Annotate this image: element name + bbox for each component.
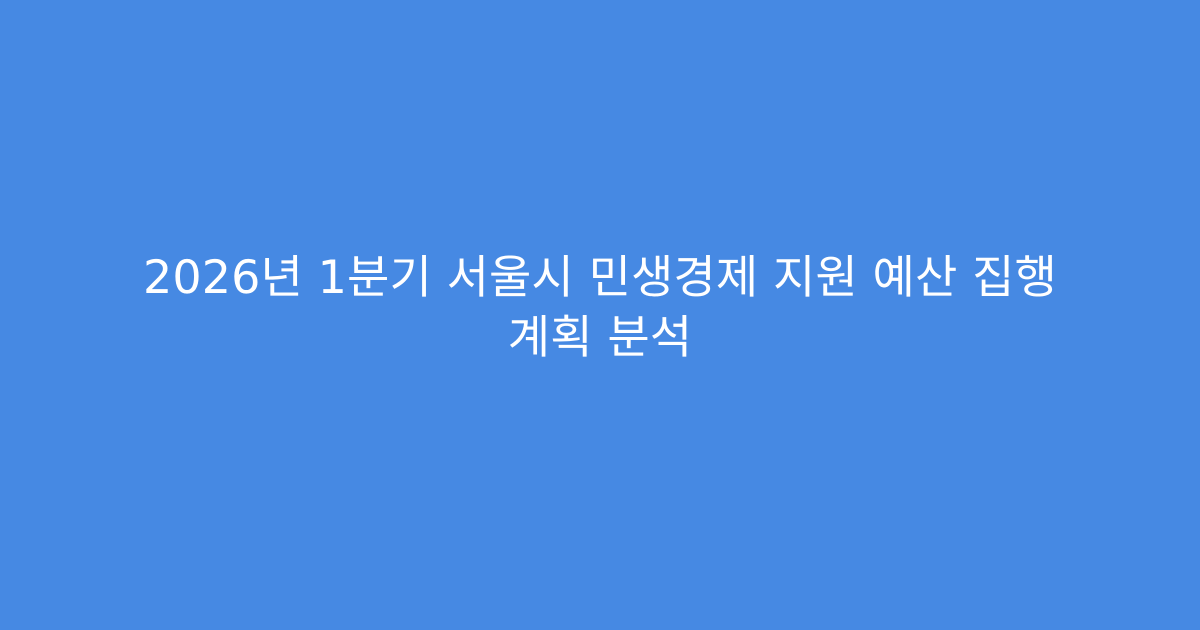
title-block: 2026년 1분기 서울시 민생경제 지원 예산 집행 계획 분석 xyxy=(100,247,1100,367)
page-title: 2026년 1분기 서울시 민생경제 지원 예산 집행 계획 분석 xyxy=(100,247,1100,367)
title-card: 2026년 1분기 서울시 민생경제 지원 예산 집행 계획 분석 xyxy=(0,0,1200,630)
